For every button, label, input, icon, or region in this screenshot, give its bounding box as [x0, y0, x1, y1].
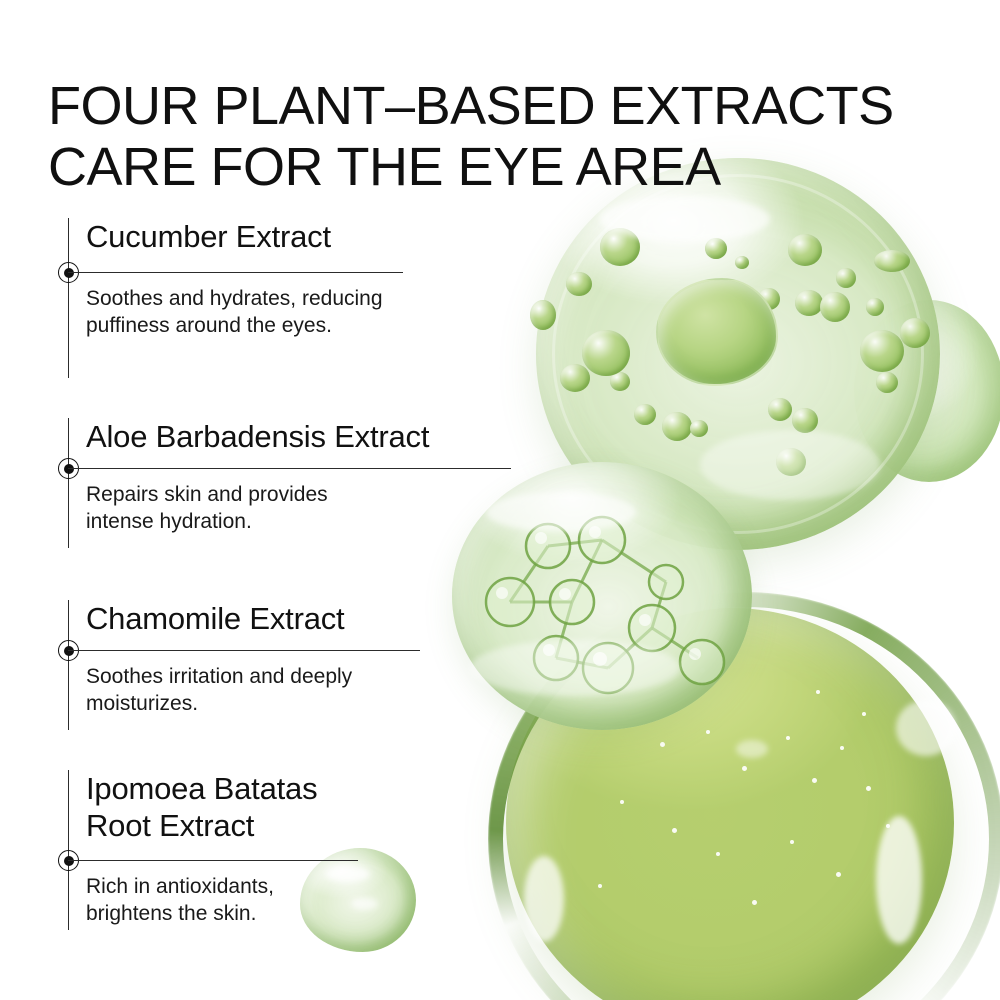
page-title: FOUR PLANT–BASED EXTRACTS CARE FOR THE E…: [48, 76, 968, 198]
divider-rule: [68, 650, 420, 651]
connector-line: [68, 418, 69, 548]
divider-rule: [68, 272, 403, 273]
title-line-1: FOUR PLANT–BASED EXTRACTS: [48, 76, 968, 137]
text-content: FOUR PLANT–BASED EXTRACTS CARE FOR THE E…: [0, 0, 1000, 1000]
connector-line: [68, 218, 69, 378]
ingredient-name: Chamomile Extract: [86, 600, 344, 637]
ingredient-name: Cucumber Extract: [86, 218, 331, 255]
ingredient-description: Repairs skin and provides intense hydrat…: [86, 482, 376, 536]
divider-rule: [68, 860, 358, 861]
ingredient-name: Aloe Barbadensis Extract: [86, 418, 429, 455]
ingredient-description: Rich in antioxidants, brightens the skin…: [86, 874, 346, 928]
divider-rule: [68, 468, 511, 469]
ingredient-description: Soothes irritation and deeply moisturize…: [86, 664, 356, 718]
connector-line: [68, 600, 69, 730]
ingredient-name: Ipomoea Batatas Root Extract: [86, 770, 376, 844]
ingredient-description: Soothes and hydrates, reducing puffiness…: [86, 286, 386, 340]
title-line-2: CARE FOR THE EYE AREA: [48, 137, 968, 198]
infographic-poster: FOUR PLANT–BASED EXTRACTS CARE FOR THE E…: [0, 0, 1000, 1000]
